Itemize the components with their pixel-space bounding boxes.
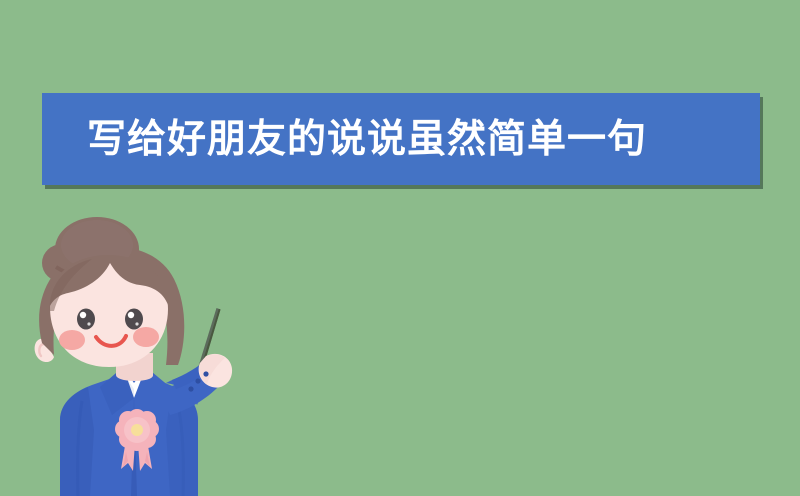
slide-canvas: 写给好朋友的说说虽然简单一句 bbox=[0, 0, 800, 496]
left-blush bbox=[59, 330, 85, 350]
teacher-illustration bbox=[20, 215, 250, 496]
page-title: 写给好朋友的说说虽然简单一句 bbox=[87, 120, 647, 159]
title-banner: 写给好朋友的说说虽然简单一句 bbox=[42, 93, 760, 185]
right-eye bbox=[125, 309, 143, 330]
right-blush bbox=[133, 327, 159, 347]
left-eye bbox=[77, 309, 95, 330]
